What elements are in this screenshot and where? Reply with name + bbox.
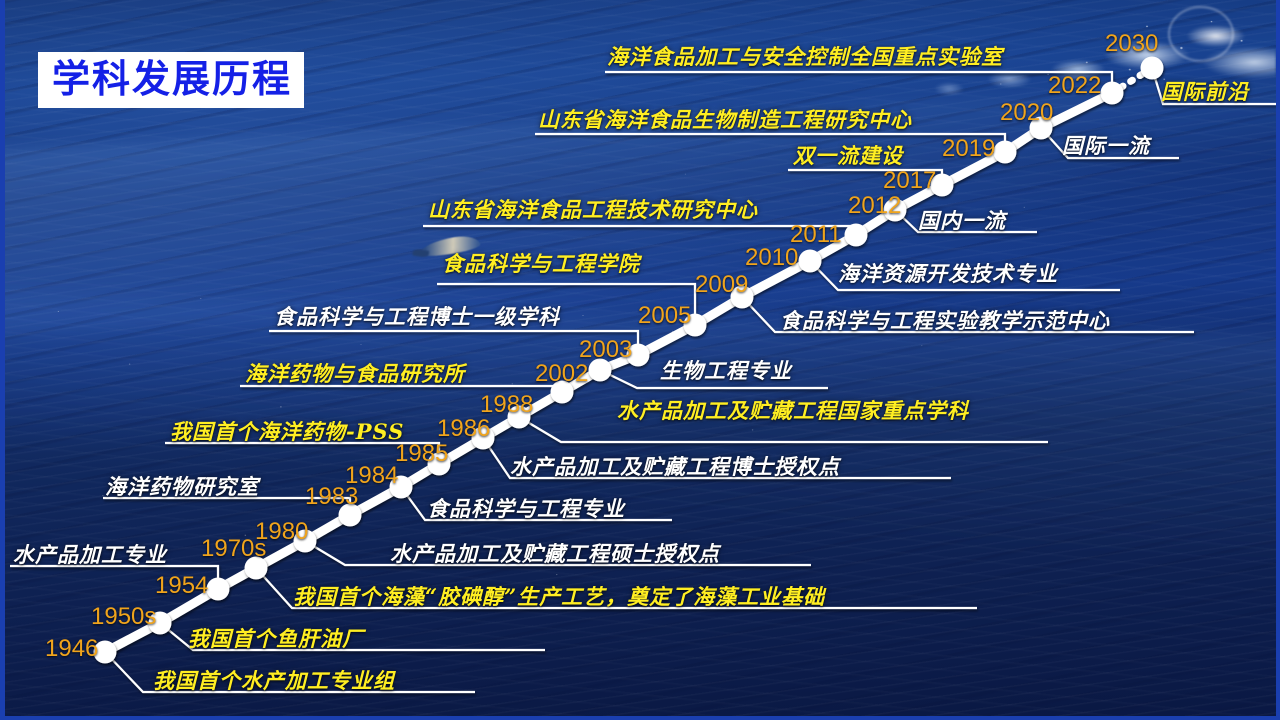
year-2019: 2019 (942, 136, 995, 162)
year-1980: 1980 (255, 519, 308, 545)
milestone-label-2002: 海洋药物与食品研究所 (245, 362, 465, 385)
timeline-node (799, 250, 822, 273)
milestone-label-2030: 国际前沿 (1161, 80, 1249, 103)
timeline-node (845, 224, 868, 247)
milestone-label-2017: 双一流建设 (793, 144, 903, 167)
milestone-label-1986: 水产品加工及贮藏工程博士授权点 (510, 455, 840, 478)
milestone-label-1985: 我国首个海洋药物-PSS (170, 420, 404, 443)
milestone-label-1946: 我国首个水产加工专业组 (153, 669, 395, 692)
year-2010: 2010 (745, 245, 798, 271)
milestone-label-2020: 国际一流 (1062, 134, 1150, 157)
timeline-node (1141, 57, 1164, 80)
year-2011: 2011 (790, 222, 842, 248)
year-1946: 1946 (45, 636, 98, 662)
milestone-label-1984: 食品科学与工程专业 (427, 497, 625, 520)
year-2020: 2020 (1000, 100, 1053, 126)
year-1984: 1984 (345, 463, 398, 489)
milestone-label-1954: 水产品加工专业 (13, 543, 167, 566)
milestone-label-1970s: 我国首个海藻“胶碘醇”生产工艺，奠定了海藻工业基础 (293, 585, 825, 608)
year-2030: 2030 (1105, 31, 1158, 57)
year-1985: 1985 (395, 441, 448, 467)
year-2005: 2005 (638, 303, 691, 329)
year-2012: 2012 (848, 193, 901, 219)
milestone-label-2011: 山东省海洋食品工程技术研究中心 (428, 198, 758, 221)
milestone-label-1988: 水产品加工及贮藏工程国家重点学科 (617, 399, 969, 422)
timeline-node (207, 578, 230, 601)
year-2009: 2009 (695, 272, 748, 298)
milestone-label-2010: 海洋资源开发技术专业 (838, 262, 1058, 285)
year-1954: 1954 (155, 573, 208, 599)
milestone-label-2003: 生物工程专业 (660, 359, 792, 382)
milestone-label-1980: 水产品加工及贮藏工程硕士授权点 (390, 542, 720, 565)
year-1950s: 1950s (91, 604, 156, 630)
milestone-label-2019: 山东省海洋食品生物制造工程研究中心 (538, 108, 912, 131)
year-2022: 2022 (1048, 73, 1101, 99)
milestone-label-2005: 食品科学与工程博士一级学科 (274, 305, 560, 328)
milestone-label-2012: 国内一流 (918, 209, 1006, 232)
slide-canvas: 学科发展历程 (0, 0, 1280, 720)
year-2002: 2002 (535, 361, 588, 387)
timeline-node (994, 141, 1017, 164)
year-1988: 1988 (480, 392, 533, 418)
milestone-label-1950s: 我国首个鱼肝油厂 (188, 627, 364, 650)
year-2017: 2017 (883, 168, 936, 194)
year-1986: 1986 (437, 416, 490, 442)
milestone-label-2009-college: 食品科学与工程学院 (442, 252, 640, 275)
timeline-node (1101, 82, 1124, 105)
milestone-label-2022: 海洋食品加工与安全控制全国重点实验室 (607, 45, 1003, 68)
milestone-label-2009-center: 食品科学与工程实验教学示范中心 (780, 309, 1110, 332)
year-2003: 2003 (579, 337, 632, 363)
milestone-label-1983: 海洋药物研究室 (105, 475, 259, 498)
